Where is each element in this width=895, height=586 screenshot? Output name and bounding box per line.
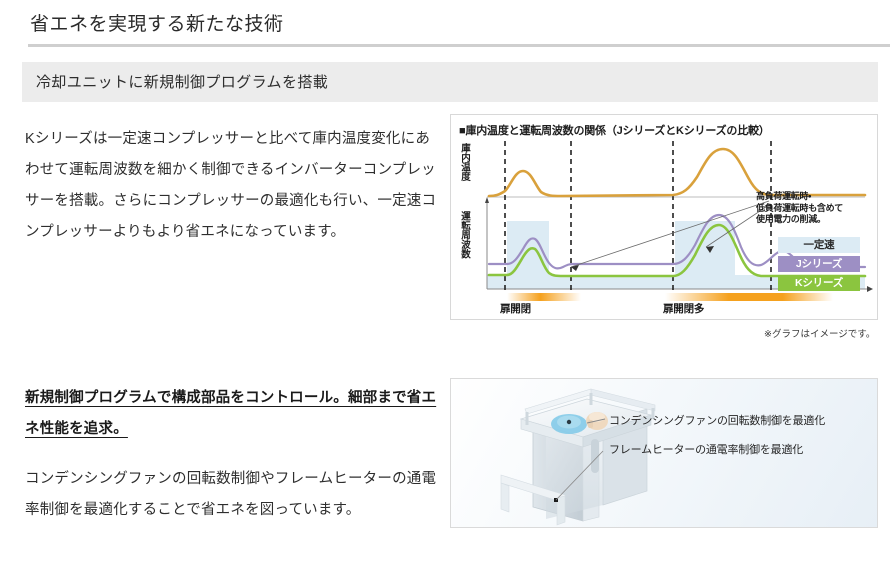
legend-item-constant-speed: 一定速 (778, 237, 860, 253)
chart-callout-annotation: 高負荷運転時・ 低負荷運転時も含めて 使用電力の削減。 (756, 191, 843, 226)
callout-line-3: 使用電力の削減。 (756, 214, 843, 226)
callout-line-1: 高負荷運転時・ (756, 191, 843, 203)
condensing-fan-hub (567, 420, 571, 424)
legend-item-j-series: Jシリーズ (778, 256, 860, 272)
time-axis-arrow (867, 286, 873, 292)
title-divider (28, 44, 890, 47)
door-activity-bar-2 (665, 293, 833, 301)
callout-leader-1 (571, 201, 769, 267)
door-frame-post-left (501, 483, 509, 512)
chart-disclaimer-note: ※グラフはイメージです。 (764, 326, 875, 340)
illustration-caption-heater: フレームヒーターの通電率制御を最適化 (609, 441, 803, 457)
door-frame-post-right (557, 496, 565, 525)
illustration-caption-fan: コンデンシングファンの回転数制御を最適化 (609, 412, 825, 428)
compressor-port (588, 420, 593, 428)
intro-paragraph: Kシリーズは一定速コンプレッサーと比べて庫内温度変化にあわせて運転周波数を細かく… (25, 124, 439, 248)
constant-speed-block-1 (507, 221, 549, 289)
subtitle-text: 冷却ユニットに新規制御プログラムを搭載 (36, 72, 328, 94)
temperature-curve (489, 149, 865, 196)
feature-paragraph: コンデンシングファンの回転数制御やフレームヒーターの通電率制御を最適化することで… (25, 464, 439, 526)
callout-line-2: 低負荷運転時も含めて (756, 203, 843, 215)
cooling-unit-illustration-panel: コンデンシングファンの回転数制御を最適化 フレームヒーターの通電率制御を最適化 (450, 378, 878, 528)
door-marker-label-1: 扉開閉 (500, 301, 531, 316)
constant-speed-block-2 (675, 221, 735, 289)
frequency-axis-arrow (485, 197, 489, 203)
door-marker-label-2: 扉開閉多 (663, 301, 704, 316)
door-activity-bar-1 (507, 293, 581, 301)
chart-panel: ■庫内温度と運転周波数の関係（JシリーズとKシリーズの比較） 庫内温度 運転周波… (450, 114, 878, 320)
legend-item-k-series: Kシリーズ (778, 275, 860, 291)
feature-heading: 新規制御プログラムで構成部品をコントロール。細部まで省エネ性能を追求。 (25, 383, 443, 445)
page-title: 省エネを実現する新たな技術 (30, 12, 284, 38)
